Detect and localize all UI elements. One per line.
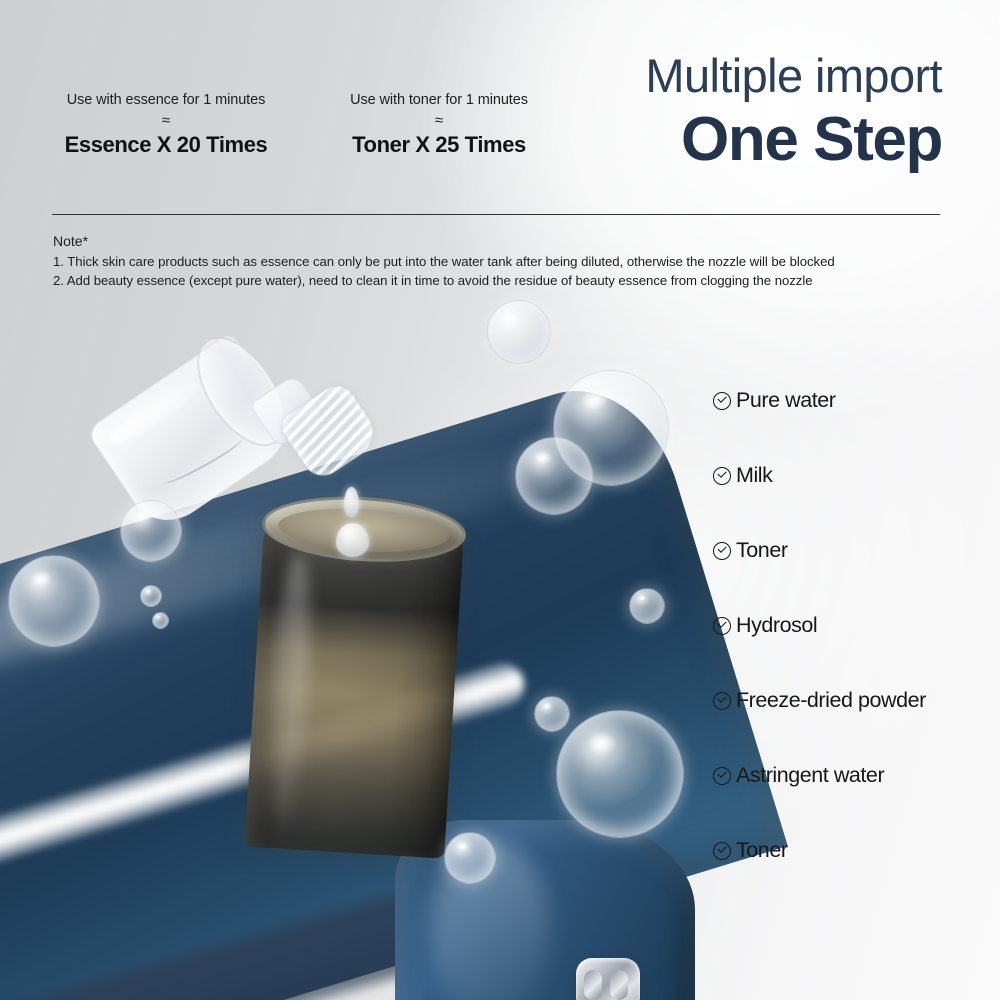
list-item: Freeze-dried powder: [713, 663, 926, 738]
list-item-label: Freeze-dried powder: [736, 688, 926, 713]
note-block: Note* 1. Thick skin care products such a…: [53, 232, 835, 290]
list-item-label: Astringent water: [736, 763, 884, 788]
list-item-label: Toner: [736, 538, 788, 563]
check-circle-icon: [713, 467, 731, 485]
compatible-liquids-list: Pure waterMilkTonerHydrosolFreeze-dried …: [713, 363, 926, 888]
check-circle-icon: [713, 842, 731, 860]
list-item: Astringent water: [713, 738, 926, 813]
stat-block-toner: Use with toner for 1 minutes ≈ Toner X 2…: [330, 92, 548, 158]
headline: Multiple import One Step: [645, 50, 942, 174]
list-item-label: Milk: [736, 463, 772, 488]
check-circle-icon: [713, 692, 731, 710]
marketing-text-overlay: Multiple import One Step Use with essenc…: [0, 0, 1000, 1000]
list-item-label: Toner: [736, 838, 788, 863]
stat-approx-toner: ≈: [330, 111, 548, 131]
list-item: Hydrosol: [713, 588, 926, 663]
headline-line-1: Multiple import: [645, 50, 942, 103]
note-line-2: 2. Add beauty essence (except pure water…: [53, 271, 835, 290]
note-line-1: 1. Thick skin care products such as esse…: [53, 252, 835, 271]
stat-value-toner: Toner X 25 Times: [330, 132, 548, 158]
list-item-label: Pure water: [736, 388, 835, 413]
list-item: Toner: [713, 813, 926, 888]
list-item: Toner: [713, 513, 926, 588]
check-circle-icon: [713, 617, 731, 635]
stat-block-essence: Use with essence for 1 minutes ≈ Essence…: [52, 92, 280, 158]
list-item: Pure water: [713, 363, 926, 438]
check-circle-icon: [713, 542, 731, 560]
stat-caption-toner: Use with toner for 1 minutes: [330, 92, 548, 108]
stat-approx-essence: ≈: [52, 111, 280, 131]
list-item-label: Hydrosol: [736, 613, 817, 638]
headline-line-2: One Step: [645, 105, 942, 174]
check-circle-icon: [713, 392, 731, 410]
horizontal-divider: [52, 214, 940, 215]
stat-caption-essence: Use with essence for 1 minutes: [52, 92, 280, 108]
note-title: Note*: [53, 232, 835, 252]
check-circle-icon: [713, 767, 731, 785]
stat-value-essence: Essence X 20 Times: [52, 132, 280, 158]
list-item: Milk: [713, 438, 926, 513]
